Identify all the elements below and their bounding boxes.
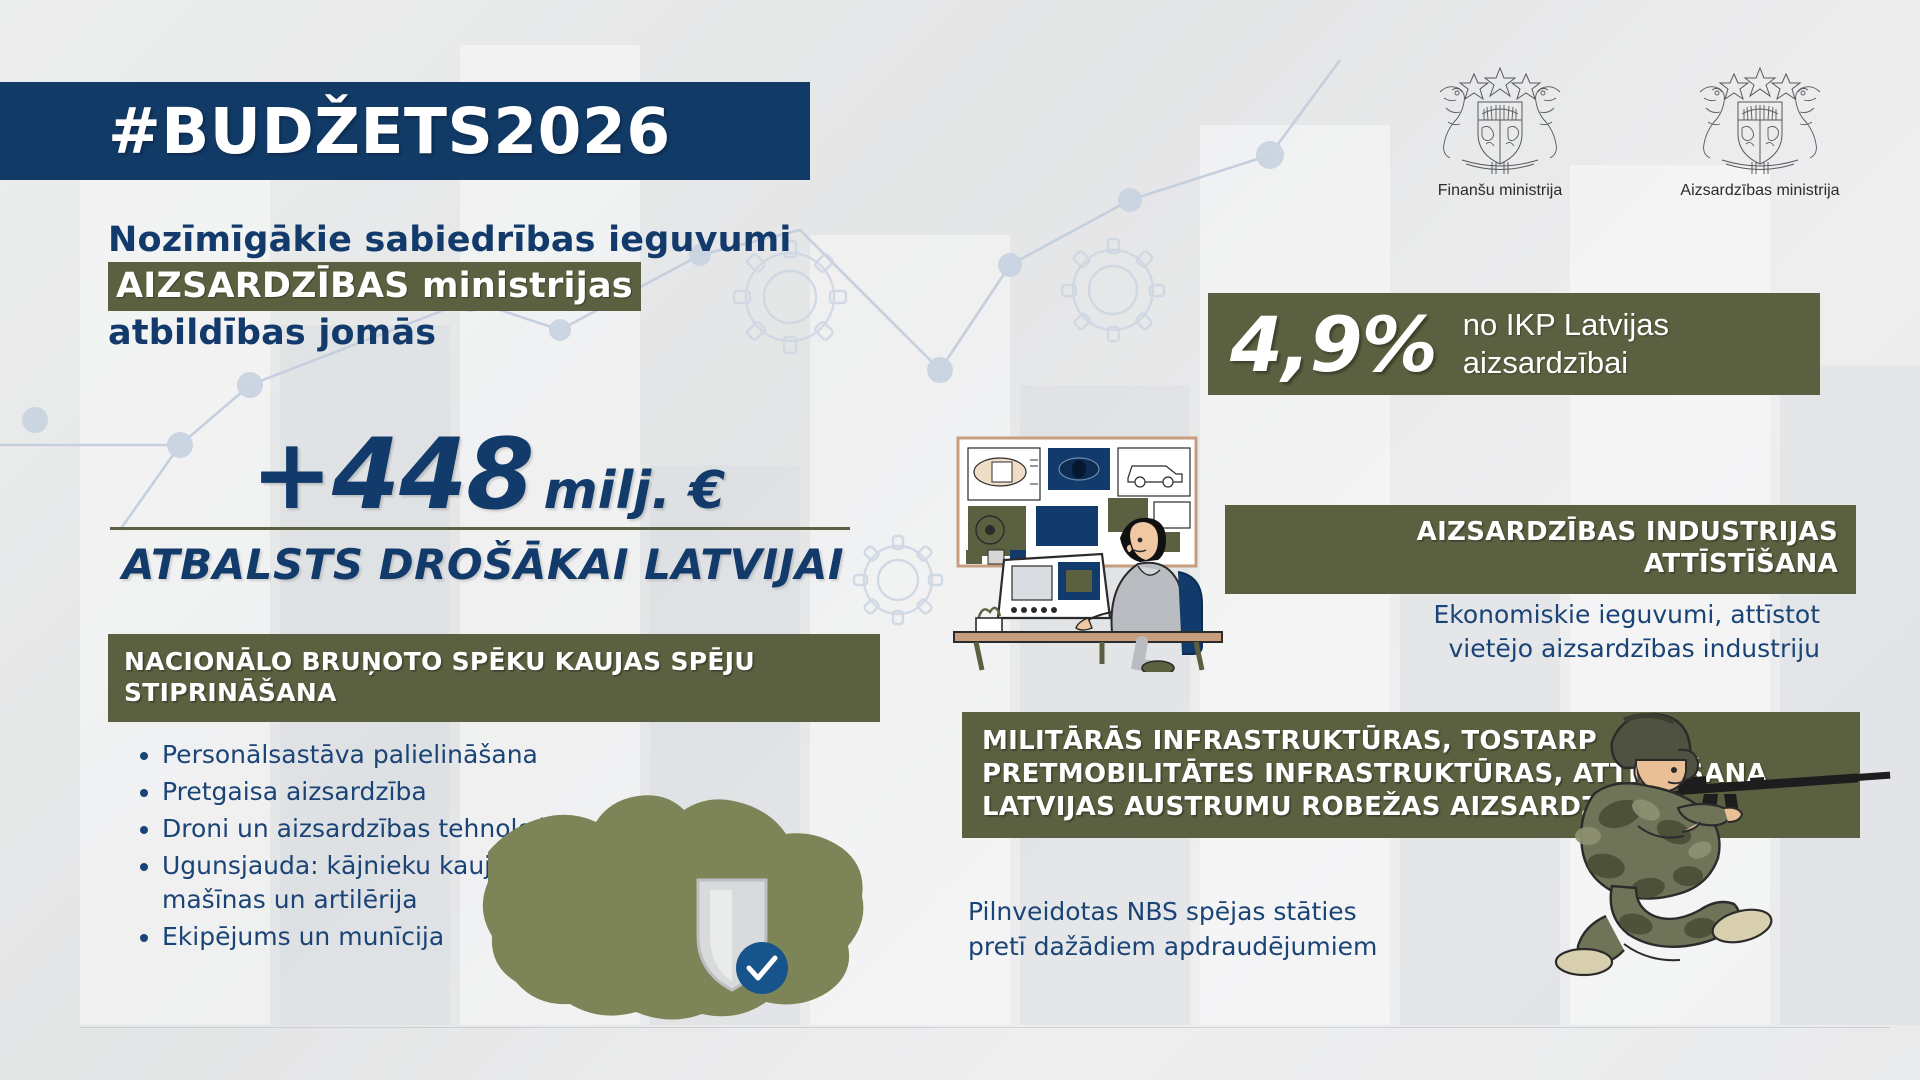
industry-description-line-2: vietējo aizsardzības industriju [1240,632,1820,666]
nbs-heading-box: NACIONĀLO BRUŅOTO SPĒKU KAUJAS SPĒJU STI… [108,634,880,722]
infrastructure-description-line-1: Pilnveidotas NBS spējas stāties [968,895,1588,930]
page-title: #BUDŽETS2026 [108,95,671,168]
gdp-label-line-2: aizsardzībai [1463,345,1628,380]
subtitle-line-3: atbildības jomās [108,311,968,355]
industry-description-line-1: Ekonomiskie ieguvumi, attīstot [1240,598,1820,632]
figure-amount: +448 [251,418,534,532]
latvia-map-illustration [470,760,890,1054]
infrastructure-description-line-2: pretī dažādiem apdraudējumiem [968,930,1588,965]
subtitle-line-2: AIZSARDZĪBAS ministrijas [108,262,968,311]
industry-heading-box: AIZSARDZĪBAS INDUSTRIJAS ATTĪSTĪŠANA [1225,505,1856,594]
industry-description: Ekonomiskie ieguvumi, attīstot vietējo a… [1240,598,1820,666]
infrastructure-description: Pilnveidotas NBS spējas stāties pretī da… [968,895,1588,964]
subtitle-highlight: AIZSARDZĪBAS ministrijas [108,262,641,311]
subtitle-ministry-strong: AIZSARDZĪBAS [116,266,410,306]
subtitle-ministry-rest: ministrijas [410,266,633,306]
logo-defence-ministry: Aizsardzības ministrija [1660,62,1860,200]
soldier-illustration [1528,690,1908,994]
latvia-map-shape [483,795,864,1019]
headline-figure: +448milj. € [108,418,868,532]
latvia-coat-of-arms-icon [1400,62,1600,174]
gdp-label-line-1: no IKP Latvijas [1463,307,1669,342]
logo-caption: Finanšu ministrija [1400,182,1600,200]
figure-tagline: ATBALSTS DROŠĀKAI LATVIJAI [108,540,858,589]
subtitle-block: Nozīmīgākie sabiedrības ieguvumi AIZSARD… [108,218,968,355]
subtitle-line-1: Nozīmīgākie sabiedrības ieguvumi [108,218,968,262]
gdp-value: 4,9% [1230,300,1437,389]
figure-unit: milj. € [543,461,725,521]
defence-engineer-illustration [952,432,1242,676]
infographic-page: #BUDŽETS2026 [0,0,1920,1080]
latvia-coat-of-arms-icon [1660,62,1860,174]
logo-caption: Aizsardzības ministrija [1660,182,1860,200]
ministry-logos: Finanšu ministrija [1400,62,1860,200]
figure-divider [110,527,850,530]
baseline-rule [80,1027,1890,1028]
gdp-label: no IKP Latvijas aizsardzībai [1463,306,1669,382]
check-circle-icon [736,942,788,994]
logo-finance-ministry: Finanšu ministrija [1400,62,1600,200]
title-banner: #BUDŽETS2026 [0,82,810,180]
gdp-percentage-box: 4,9% no IKP Latvijas aizsardzībai [1208,293,1820,395]
